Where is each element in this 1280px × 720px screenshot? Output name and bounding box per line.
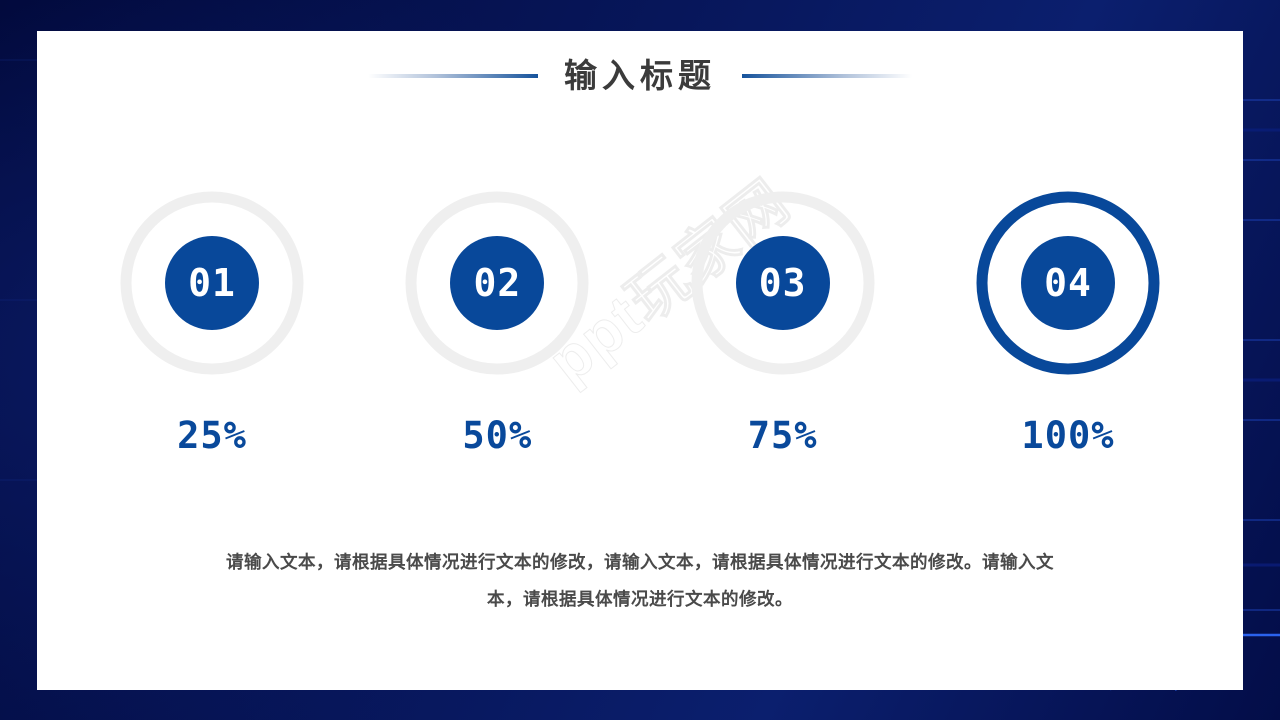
progress-number-04: 04 [1044,264,1092,302]
title-rule-right-icon [742,74,912,78]
progress-ring-01: 01 [112,183,312,383]
progress-circle-row: 01 25% 02 50% [97,183,1183,454]
progress-hub-02: 02 [450,236,544,330]
progress-ring-04: 04 [968,183,1168,383]
progress-hub-01: 01 [165,236,259,330]
progress-hub-04: 04 [1021,236,1115,330]
progress-number-01: 01 [188,264,236,302]
progress-percent-01: 25% [177,417,247,454]
progress-item-04[interactable]: 04 100% [953,183,1183,454]
slide-canvas: ppt玩家网 输入标题 01 25% [0,0,1280,720]
progress-percent-03: 75% [748,417,818,454]
progress-item-02[interactable]: 02 50% [382,183,612,454]
page-title: 输入标题 [564,59,716,92]
body-paragraph: 请输入文本，请根据具体情况进行文本的修改，请输入文本，请根据具体情况进行文本的修… [222,544,1058,618]
progress-item-01[interactable]: 01 25% [97,183,327,454]
progress-number-02: 02 [473,264,521,302]
progress-ring-02: 02 [397,183,597,383]
progress-percent-02: 50% [462,417,532,454]
title-rule-left-icon [368,74,538,78]
progress-ring-03: 03 [683,183,883,383]
progress-item-03[interactable]: 03 75% [668,183,898,454]
progress-hub-03: 03 [736,236,830,330]
progress-percent-04: 100% [1021,417,1114,454]
progress-number-03: 03 [759,264,807,302]
content-panel: ppt玩家网 输入标题 01 25% [37,31,1243,690]
page-title-row: 输入标题 [37,59,1243,92]
